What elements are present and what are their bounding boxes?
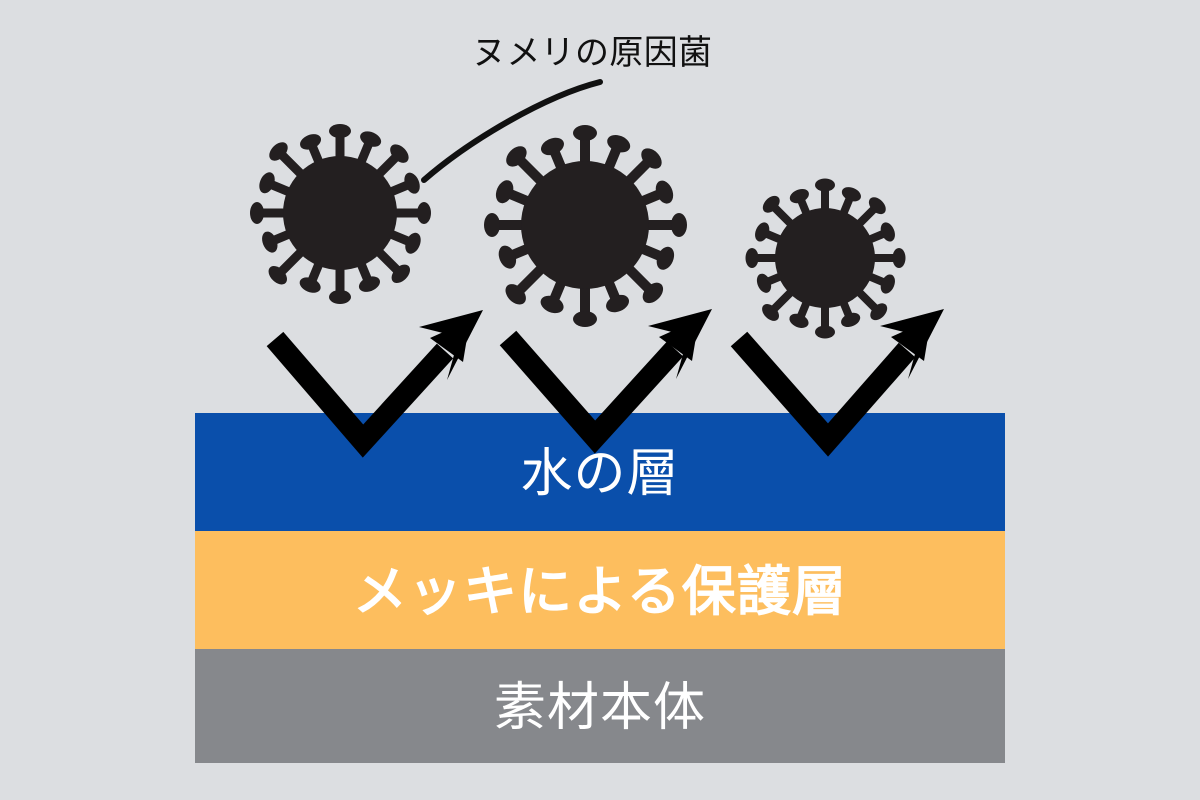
callout-label-text: ヌメリの原因菌 xyxy=(472,36,712,70)
repel-arrow-1 xyxy=(275,310,483,441)
diagram-canvas: 水の層 メッキによる保護層 素材本体 ヌメリの原因菌 xyxy=(0,0,1200,800)
repel-arrows-layer xyxy=(0,0,1200,800)
repel-arrow-2 xyxy=(508,309,712,437)
repel-arrow-3 xyxy=(739,309,944,440)
